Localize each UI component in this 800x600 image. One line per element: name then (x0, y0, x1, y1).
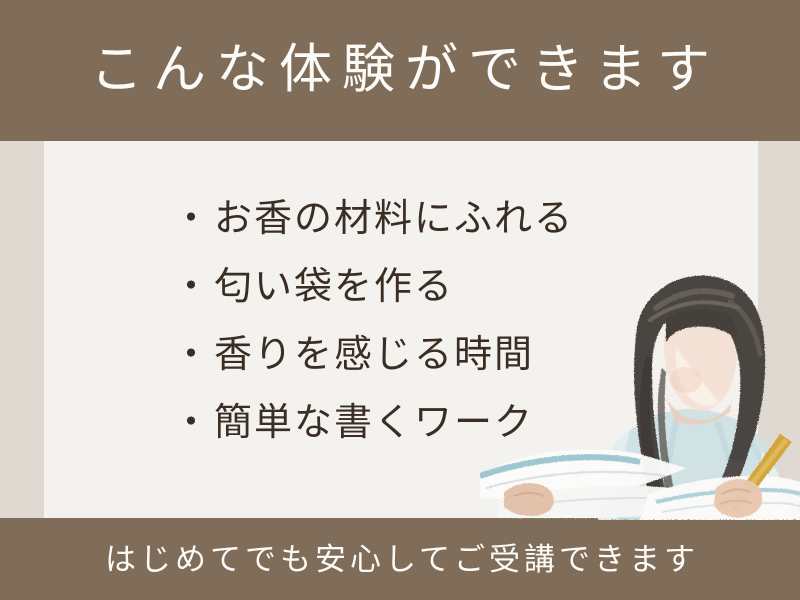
header-band: こんな体験ができます (0, 0, 800, 141)
footer-text: はじめてでも安心してご受講できます (101, 544, 699, 575)
bullet-icon: ・ (172, 200, 212, 238)
left-side-strip (0, 141, 44, 518)
page-title: こんな体験ができます (80, 44, 720, 97)
list-item-label: 匂い袋を作る (214, 268, 454, 306)
slide-root: こんな体験ができます ・ お香の材料にふれる ・ 匂い袋を作る ・ 香りを感じる… (0, 0, 800, 600)
bullet-icon: ・ (172, 336, 212, 374)
list-item-label: 簡単な書くワーク (214, 404, 534, 442)
list-item: ・ お香の材料にふれる (172, 200, 602, 268)
list-item-label: お香の材料にふれる (214, 200, 574, 238)
bullet-icon: ・ (172, 268, 212, 306)
experience-list: ・ お香の材料にふれる ・ 匂い袋を作る ・ 香りを感じる時間 ・ 簡単な書くワ… (172, 200, 602, 472)
footer-band: はじめてでも安心してご受講できます (0, 518, 800, 600)
list-item: ・ 匂い袋を作る (172, 268, 602, 336)
list-item: ・ 香りを感じる時間 (172, 336, 602, 404)
right-side-strip (758, 141, 800, 518)
bullet-icon: ・ (172, 404, 212, 442)
list-item-label: 香りを感じる時間 (214, 336, 534, 374)
list-item: ・ 簡単な書くワーク (172, 404, 602, 472)
